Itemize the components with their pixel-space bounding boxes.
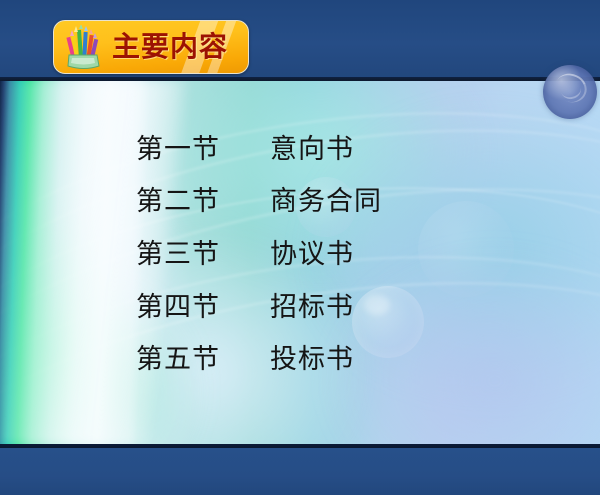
list-item: 第四节 招标书 [136,281,556,327]
section-number: 第二节 [136,179,270,218]
slide-title-badge: 主要内容 [53,20,249,74]
section-title: 招标书 [270,285,354,324]
section-title: 投标书 [270,337,354,376]
section-title: 商务合同 [270,179,382,218]
presentation-slide: 主要内容 第一节 意向书 第二节 商务合同 第三节 协议书 第四节 招标书 第五… [0,0,600,495]
section-title: 协议书 [270,232,354,271]
colored-pencils-icon [63,25,105,69]
footer-band [0,448,600,495]
table-of-contents-list: 第一节 意向书 第二节 商务合同 第三节 协议书 第四节 招标书 第五节 投标书 [0,81,600,445]
list-item: 第一节 意向书 [136,123,556,169]
section-number: 第五节 [136,337,270,376]
slide-title-label: 主要内容 [110,21,230,73]
section-title: 意向书 [270,127,354,166]
section-number: 第三节 [136,232,270,271]
list-item: 第三节 协议书 [136,228,556,274]
list-item: 第二节 商务合同 [136,175,556,221]
section-number: 第四节 [136,285,270,324]
section-number: 第一节 [136,127,270,166]
list-item: 第五节 投标书 [136,333,556,379]
